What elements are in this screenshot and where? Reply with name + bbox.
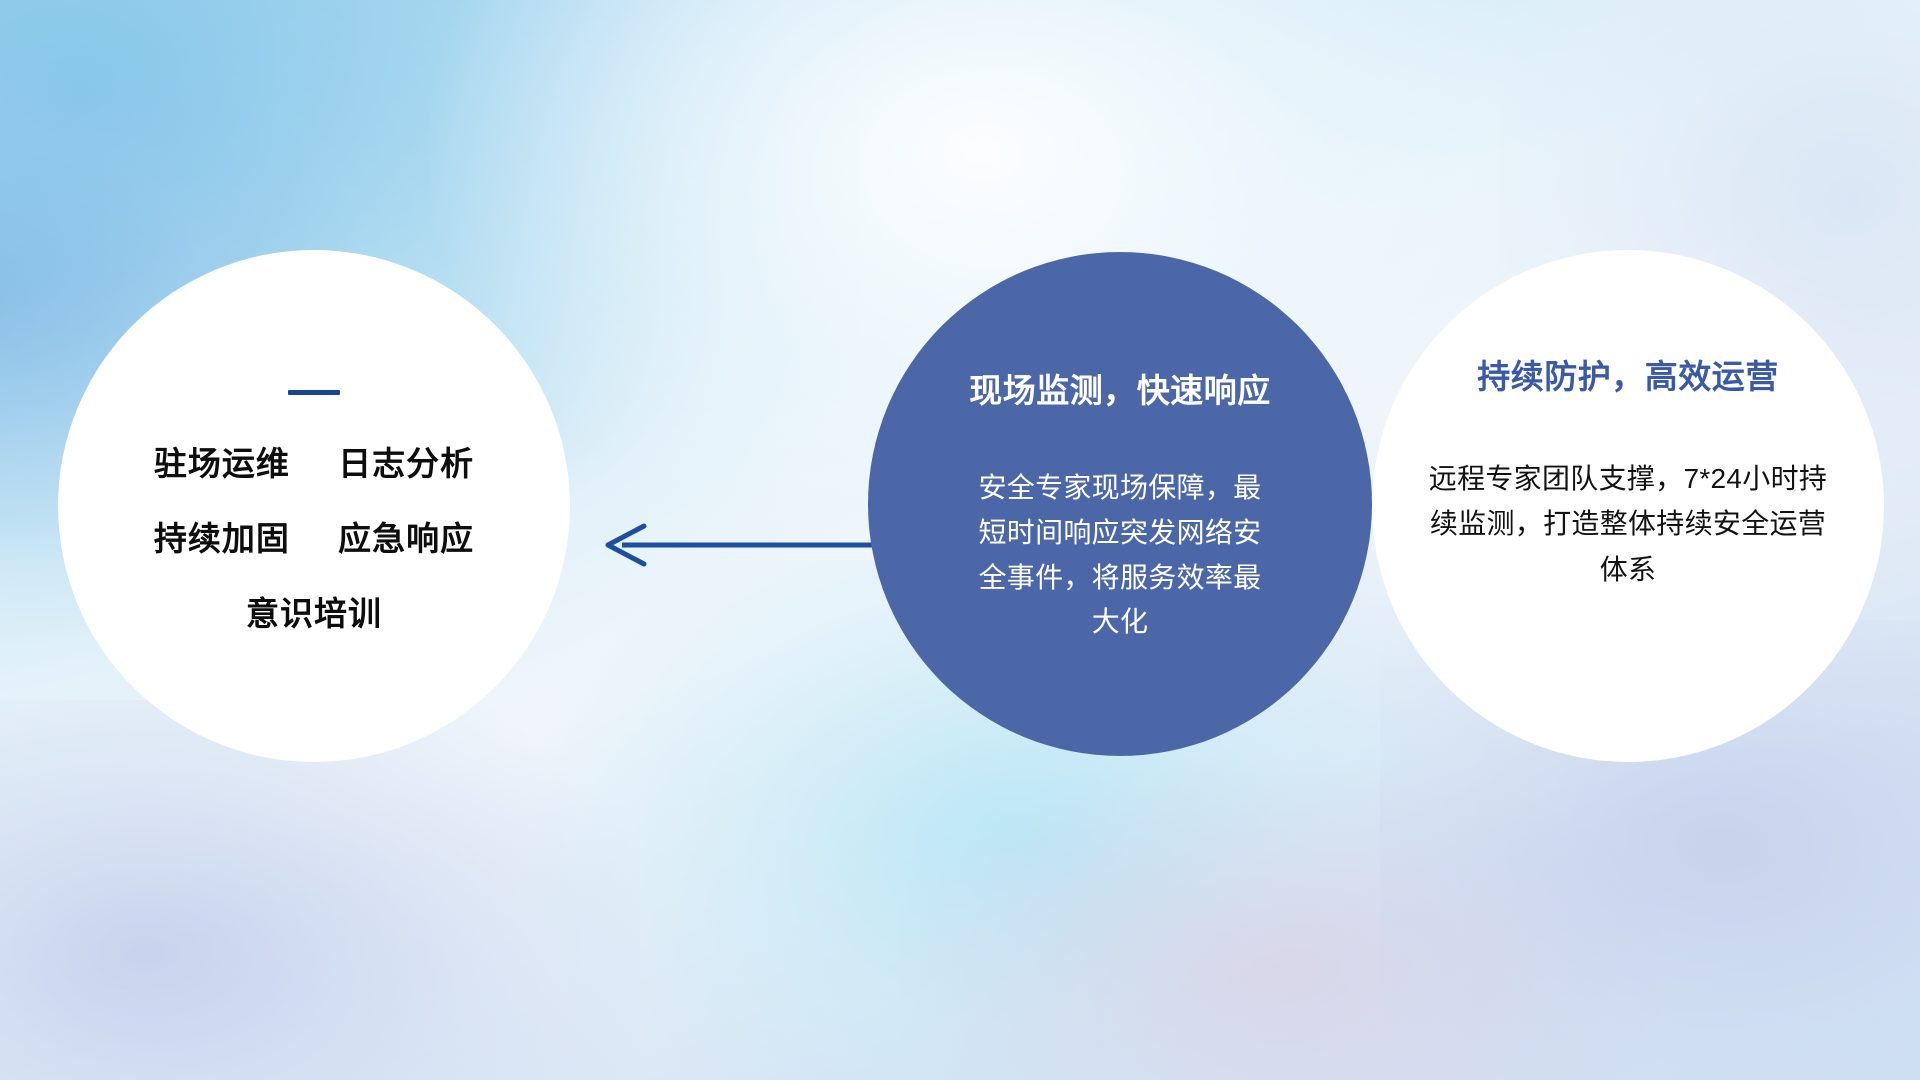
right-circle-title: 持续防护，高效运营 [1477, 350, 1779, 398]
right-circle-body: 远程专家团队支撑，7*24小时持续监测，打造整体持续安全运营体系 [1418, 456, 1838, 592]
capability-row-2: 持续加固 应急响应 [154, 522, 474, 555]
capability-item-2: 日志分析 [338, 445, 474, 482]
slide-canvas: 驻场运维 日志分析 持续加固 应急响应 意识培训 现场监测，快速响应 安全专家现… [0, 0, 1920, 1080]
right-circle-content: 持续防护，高效运营 远程专家团队支撑，7*24小时持续监测，打造整体持续安全运营… [1372, 250, 1884, 592]
left-circle-content: 驻场运维 日志分析 持续加固 应急响应 意识培训 [58, 250, 570, 630]
capability-circle-center[interactable]: 现场监测，快速响应 安全专家现场保障，最短时间响应突发网络安全事件，将服务效率最… [868, 252, 1372, 756]
center-circle-content: 现场监测，快速响应 安全专家现场保障，最短时间响应突发网络安全事件，将服务效率最… [868, 252, 1372, 645]
capability-item-5: 意识培训 [246, 595, 382, 632]
center-circle-body: 安全专家现场保障，最短时间响应突发网络安全事件，将服务效率最大化 [968, 466, 1273, 645]
capability-circle-right[interactable]: 持续防护，高效运营 远程专家团队支撑，7*24小时持续监测，打造整体持续安全运营… [1372, 250, 1884, 762]
capability-circle-left[interactable]: 驻场运维 日志分析 持续加固 应急响应 意识培训 [58, 250, 570, 762]
center-circle-title: 现场监测，快速响应 [969, 364, 1271, 412]
divider-line [288, 390, 340, 395]
capability-row-3: 意识培训 [246, 597, 382, 630]
capability-item-4: 应急响应 [338, 520, 474, 557]
arrow-left-icon [600, 520, 890, 570]
flow-arrow [600, 520, 890, 570]
capability-item-3: 持续加固 [154, 520, 290, 557]
capability-item-1: 驻场运维 [154, 445, 290, 482]
capability-row-1: 驻场运维 日志分析 [154, 447, 474, 480]
